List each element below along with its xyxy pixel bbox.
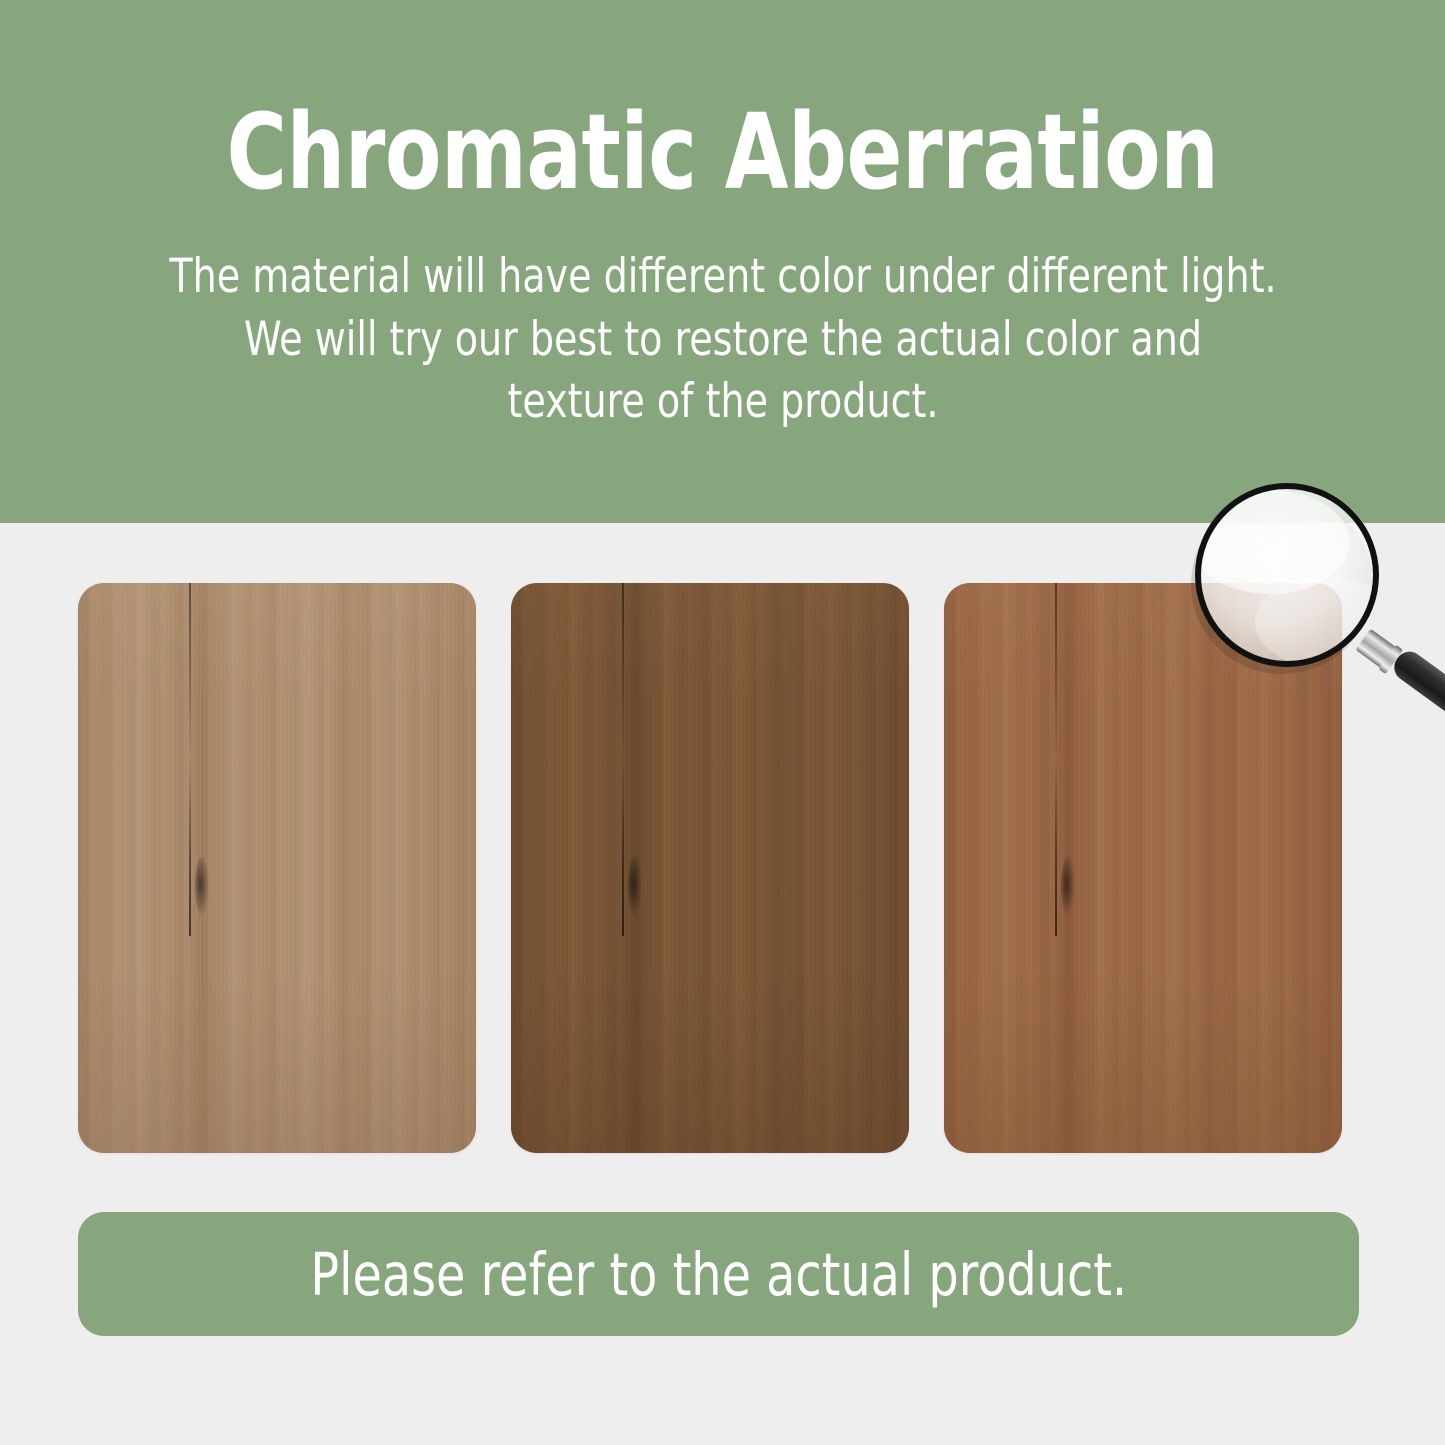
wood-vertical-shading [78,583,476,1153]
header-banner: Chromatic Aberration The material will h… [0,0,1445,523]
wood-texture [511,583,909,1153]
wood-vertical-shading [944,583,1342,1153]
subtitle-line-1: The material will have different color u… [129,246,1317,309]
dark-walnut-wood-swatch[interactable] [511,583,909,1153]
page-title: Chromatic Aberration [87,96,1359,208]
subtitle-line-3: texture of the product. [129,371,1317,434]
header-subtitle: The material will have different color u… [129,246,1317,434]
wood-texture [944,583,1342,1153]
subtitle-line-2: We will try our best to restore the actu… [129,309,1317,372]
light-oak-wood-swatch[interactable] [78,583,476,1153]
wood-vertical-shading [511,583,909,1153]
wood-texture [78,583,476,1153]
footer-banner: Please refer to the actual product. [78,1212,1359,1336]
rustic-chestnut-wood-swatch[interactable] [944,583,1342,1153]
footer-text: Please refer to the actual product. [310,1245,1127,1304]
